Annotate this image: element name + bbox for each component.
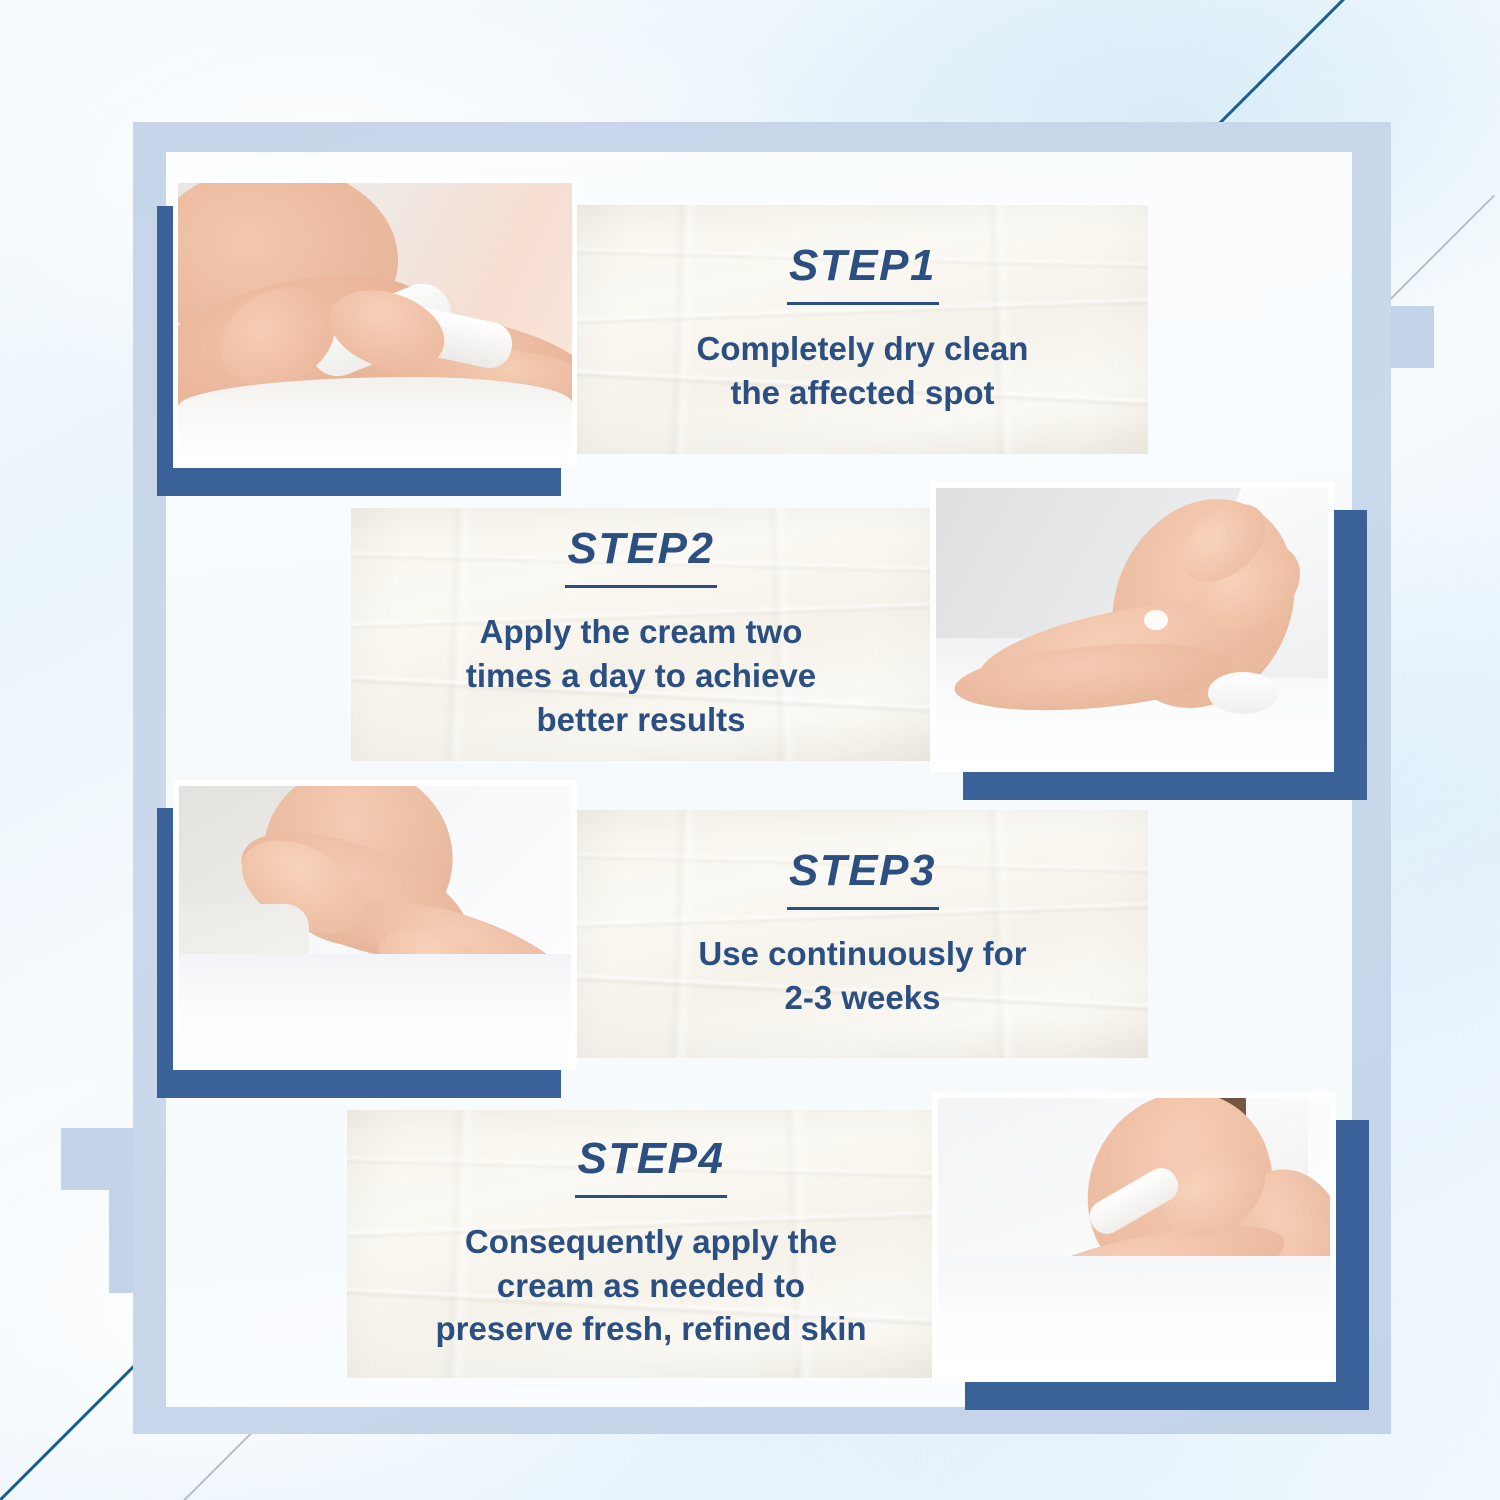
step-3-photo — [157, 780, 577, 1080]
step-1-photo — [157, 178, 577, 473]
step-4-text-card: STEP4 Consequently apply the cream as ne… — [347, 1110, 955, 1378]
step-4-photo — [932, 1092, 1369, 1392]
step-1-photo-image — [178, 183, 572, 463]
step-1-text-card: STEP1 Completely dry clean the affected … — [577, 205, 1148, 454]
step-3-text-card: STEP3 Use continuously for 2-3 weeks — [577, 810, 1148, 1058]
step-2-description: Apply the cream two times a day to achie… — [466, 610, 816, 742]
step-4-description: Consequently apply the cream as needed t… — [435, 1220, 866, 1352]
step-2-title: STEP2 — [568, 527, 715, 571]
step-1-title: STEP1 — [789, 244, 936, 288]
step-3-photo-image — [179, 786, 571, 1064]
step-4-title-underline — [575, 1195, 727, 1198]
step-2-text-card: STEP2 Apply the cream two times a day to… — [351, 508, 931, 761]
step-3-description: Use continuously for 2-3 weeks — [698, 932, 1026, 1020]
step-2-title-underline — [565, 585, 717, 588]
step-3-title-underline — [787, 907, 939, 910]
step-4-title: STEP4 — [578, 1137, 725, 1181]
step-4-photo-image — [938, 1098, 1330, 1376]
step-2-photo — [930, 482, 1367, 782]
step-1-description: Completely dry clean the affected spot — [697, 327, 1029, 415]
step-3-title: STEP3 — [789, 849, 936, 893]
step-2-photo-image — [936, 488, 1328, 766]
step-1-title-underline — [787, 302, 939, 305]
